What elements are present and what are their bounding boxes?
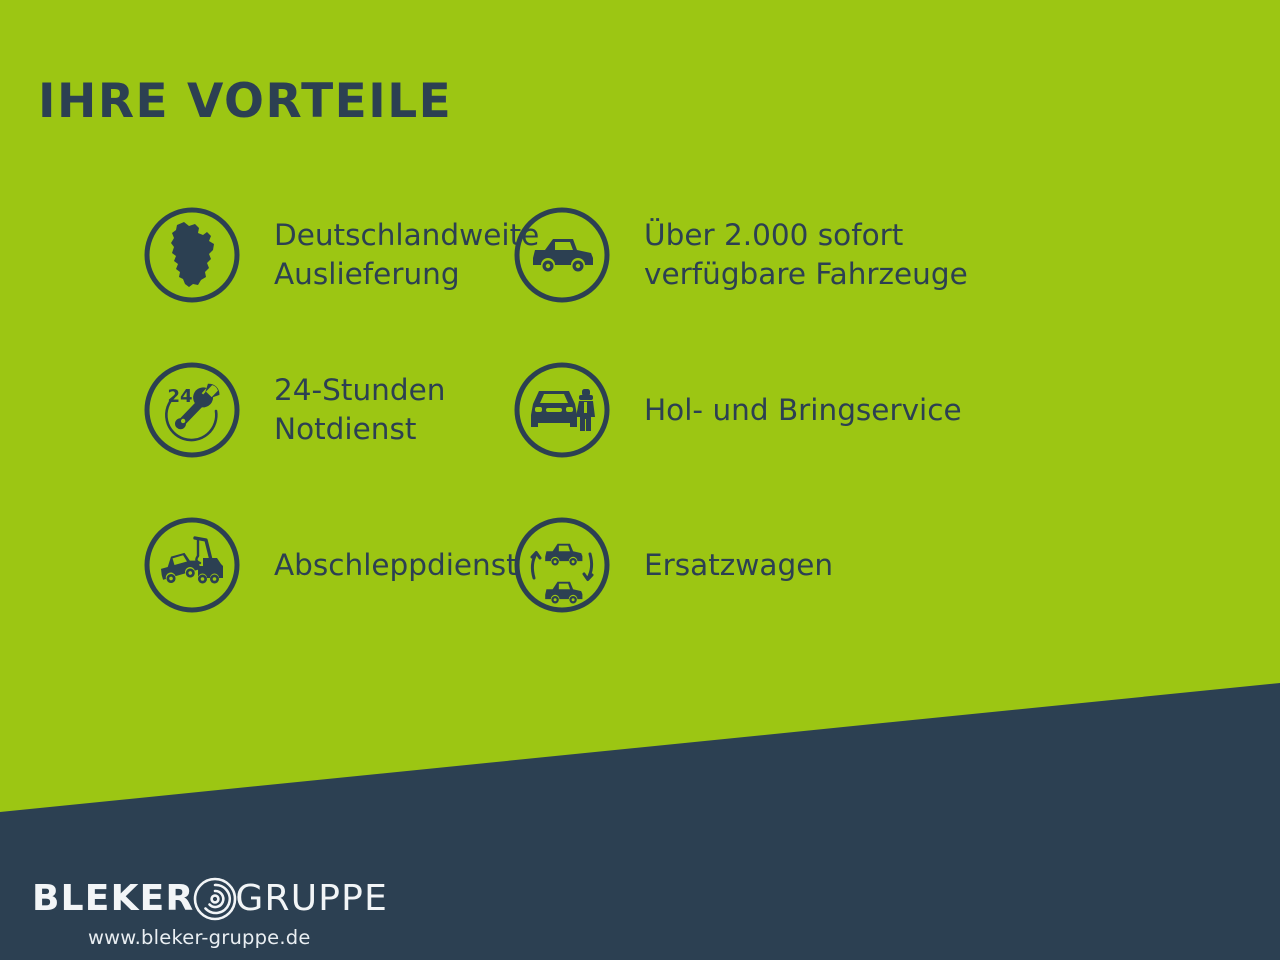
benefit-item-abschleppdienst: Abschleppdienst bbox=[0, 506, 500, 624]
benefit-label: Über 2.000 sofort verfügbare Fahrzeuge bbox=[644, 216, 968, 294]
logo-brand-light: GRUPPE bbox=[235, 881, 388, 917]
tow-truck-icon bbox=[143, 516, 241, 614]
germany-map-icon bbox=[143, 206, 241, 304]
benefit-label: Hol- und Bringservice bbox=[644, 391, 962, 430]
benefit-item-24-stunden-notdienst: 24 24-Stunden Notdienst bbox=[0, 351, 500, 469]
replacement-car-icon bbox=[513, 516, 611, 614]
website-url[interactable]: www.bleker-gruppe.de bbox=[88, 926, 362, 949]
benefit-item-deutschlandweite-auslieferung: Deutschlandweite Auslieferung bbox=[0, 196, 500, 314]
benefit-label: 24-Stunden Notdienst bbox=[274, 371, 445, 449]
car-with-driver-icon bbox=[513, 361, 611, 459]
benefit-label: Ersatzwagen bbox=[644, 546, 833, 585]
benefit-item-verfuegbare-fahrzeuge: Über 2.000 sofort verfügbare Fahrzeuge bbox=[500, 196, 1140, 314]
car-side-icon bbox=[513, 206, 611, 304]
company-logo[interactable]: BLEKER GRUPPE www.bleker-gruppe.de bbox=[32, 876, 362, 954]
24-hour-wrench-icon: 24 bbox=[143, 361, 241, 459]
page-title: IHRE VORTEILE bbox=[38, 78, 452, 125]
logo-brand-bold: BLEKER bbox=[32, 881, 194, 917]
spiral-icon bbox=[192, 876, 238, 922]
benefit-item-ersatzwagen: Ersatzwagen bbox=[500, 506, 1140, 624]
benefits-row: Deutschlandweite Auslieferung Über 2.000… bbox=[0, 196, 1280, 351]
hours-badge-text: 24 bbox=[167, 386, 192, 407]
benefits-row: Abschleppdienst bbox=[0, 506, 1280, 661]
benefits-grid: Deutschlandweite Auslieferung Über 2.000… bbox=[0, 196, 1280, 661]
benefit-item-hol-und-bringservice: Hol- und Bringservice bbox=[500, 351, 1140, 469]
benefits-row: 24 24-Stunden Notdienst bbox=[0, 351, 1280, 506]
logo-wordmark: BLEKER GRUPPE bbox=[32, 876, 362, 922]
benefit-label: Abschleppdienst bbox=[274, 546, 518, 585]
slide-canvas: IHRE VORTEILE Deutschlandweite Ausliefer… bbox=[0, 0, 1280, 960]
